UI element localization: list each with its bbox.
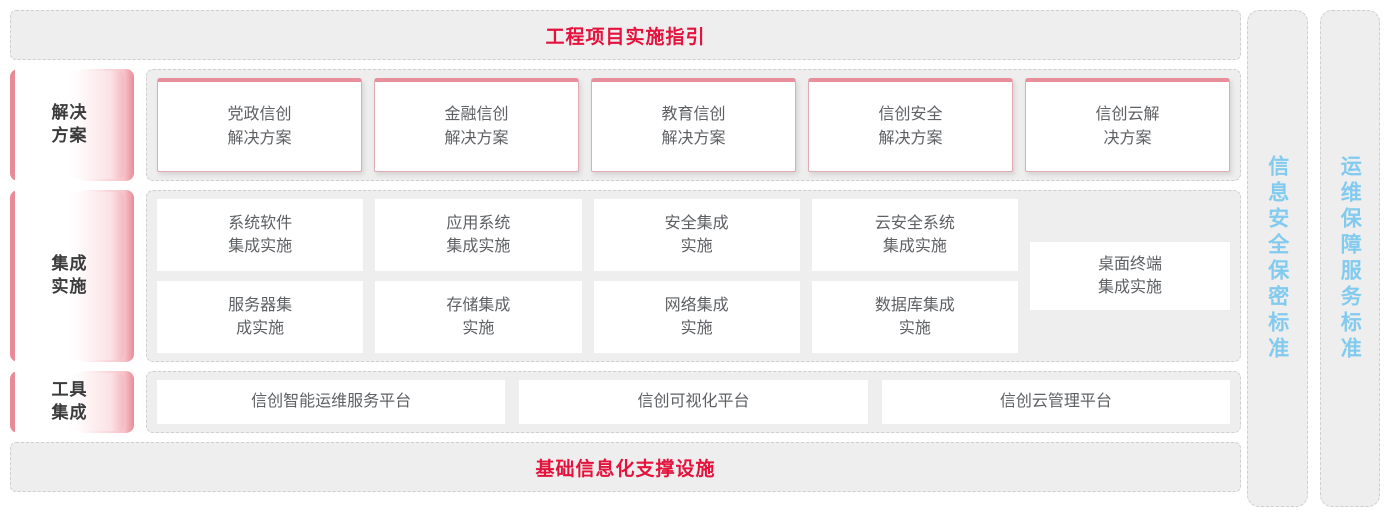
solution-card-text: 信创云解 决方案: [1095, 103, 1159, 149]
integration-card-text: 安全集成 实施: [665, 212, 729, 258]
panel-solutions: 党政信创 解决方案 金融信创 解决方案 教育信创 解决方案: [146, 69, 1241, 181]
tool-card-label: 信创智能运维服务平台: [251, 390, 411, 413]
solution-card-text: 金融信创 解决方案: [444, 103, 508, 149]
row-integration: 集成 实施 系统软件 集成实施: [10, 190, 1241, 362]
tab-solutions-label: 解决 方案: [52, 102, 88, 148]
tab-solutions-inner: 解决 方案: [15, 71, 124, 179]
integration-card-desktop-terminal[interactable]: 桌面终端 集成实施: [1030, 242, 1230, 310]
integration-card-text: 服务器集 成实施: [228, 294, 292, 340]
solution-card-line1: 党政信创: [227, 106, 291, 123]
solution-card-line2: 解决方案: [444, 130, 508, 147]
solution-card-line2: 解决方案: [227, 130, 291, 147]
integration-card-line2: 实施: [462, 320, 494, 337]
solutions-grid: 党政信创 解决方案 金融信创 解决方案 教育信创 解决方案: [157, 78, 1230, 172]
integration-card-line2: 实施: [681, 320, 713, 337]
integration-card-line1: 安全集成: [665, 215, 729, 232]
side-standards-column: 信息安全保密标准 运维保障服务标准: [1247, 0, 1390, 515]
solution-card[interactable]: 教育信创 解决方案: [591, 78, 796, 172]
integration-card-line2: 集成实施: [1098, 279, 1162, 296]
integration-wrap: 系统软件 集成实施 应用系统 集成实施 安全: [157, 199, 1230, 353]
tab-tools-label-line1: 工具: [52, 380, 88, 399]
solution-card-line2: 解决方案: [878, 130, 942, 147]
solution-card-line2: 决方案: [1103, 130, 1151, 147]
side-panel-security-standard[interactable]: 信息安全保密标准: [1247, 10, 1308, 507]
integration-card-line2: 集成实施: [228, 238, 292, 255]
solution-card-text: 教育信创 解决方案: [661, 103, 725, 149]
solution-card[interactable]: 金融信创 解决方案: [374, 78, 579, 172]
integration-card[interactable]: 服务器集 成实施: [157, 281, 363, 353]
solution-card-line1: 信创云解: [1095, 106, 1159, 123]
solution-card-line1: 教育信创: [661, 106, 725, 123]
tab-integration-inner: 集成 实施: [15, 192, 124, 360]
integration-card-line2: 成实施: [236, 320, 284, 337]
tool-card-label: 信创可视化平台: [637, 390, 749, 413]
solution-card[interactable]: 党政信创 解决方案: [157, 78, 362, 172]
integration-card[interactable]: 网络集成 实施: [594, 281, 800, 353]
integration-card-text: 系统软件 集成实施: [228, 212, 292, 258]
tools-grid: 信创智能运维服务平台 信创可视化平台 信创云管理平台: [157, 380, 1230, 424]
side-panel-ops-standard-label: 运维保障服务标准: [1339, 155, 1360, 363]
integration-card-text: 存储集成 实施: [446, 294, 510, 340]
integration-card-text: 数据库集成 实施: [875, 294, 955, 340]
row-solutions: 解决 方案 党政信创 解决方案 金融信创: [10, 69, 1241, 181]
integration-card-line1: 应用系统: [446, 215, 510, 232]
integration-card-line1: 服务器集: [228, 297, 292, 314]
tab-tools-inner: 工具 集成: [15, 373, 124, 431]
tab-integration-label-line1: 集成: [52, 254, 88, 273]
integration-card-line1: 存储集成: [446, 297, 510, 314]
integration-card-line2: 实施: [899, 320, 931, 337]
tool-card[interactable]: 信创可视化平台: [519, 380, 867, 424]
tab-integration-label: 集成 实施: [52, 253, 88, 299]
tab-solutions-label-line1: 解决: [52, 103, 88, 122]
panel-tools: 信创智能运维服务平台 信创可视化平台 信创云管理平台: [146, 371, 1241, 433]
tab-solutions-label-line2: 方案: [52, 126, 88, 145]
integration-card[interactable]: 云安全系统 集成实施: [812, 199, 1018, 271]
page-title: 工程项目实施指引: [545, 22, 705, 49]
integration-card-line2: 集成实施: [883, 238, 947, 255]
integration-card-line1: 桌面终端: [1098, 256, 1162, 273]
tool-card-label: 信创云管理平台: [1000, 390, 1112, 413]
side-panel-ops-standard[interactable]: 运维保障服务标准: [1320, 10, 1381, 507]
diagram-root: 工程项目实施指引 解决 方案 党政信创 解决方案: [0, 0, 1390, 515]
footer-banner: 基础信息化支撑设施: [10, 442, 1241, 492]
integration-card-line1: 系统软件: [228, 215, 292, 232]
tab-integration-label-line2: 实施: [52, 277, 88, 296]
integration-card[interactable]: 系统软件 集成实施: [157, 199, 363, 271]
integration-card[interactable]: 数据库集成 实施: [812, 281, 1018, 353]
integration-card-line1: 网络集成: [665, 297, 729, 314]
tab-solutions[interactable]: 解决 方案: [10, 69, 134, 181]
integration-card-line2: 实施: [681, 238, 713, 255]
tab-tools[interactable]: 工具 集成: [10, 371, 134, 433]
tool-card[interactable]: 信创智能运维服务平台: [157, 380, 505, 424]
integration-card-line1: 云安全系统: [875, 215, 955, 232]
solution-card-text: 信创安全 解决方案: [878, 103, 942, 149]
integration-card[interactable]: 应用系统 集成实施: [375, 199, 581, 271]
tool-card[interactable]: 信创云管理平台: [882, 380, 1230, 424]
integration-card[interactable]: 安全集成 实施: [594, 199, 800, 271]
solution-card-line1: 金融信创: [444, 106, 508, 123]
integration-card-text: 应用系统 集成实施: [446, 212, 510, 258]
footer-title: 基础信息化支撑设施: [535, 454, 715, 481]
integration-card-line1: 数据库集成: [875, 297, 955, 314]
solution-card-line2: 解决方案: [661, 130, 725, 147]
integration-side-wrap: 桌面终端 集成实施: [1030, 199, 1230, 353]
header-banner: 工程项目实施指引: [10, 10, 1241, 60]
solution-card-text: 党政信创 解决方案: [227, 103, 291, 149]
integration-card-text: 云安全系统 集成实施: [875, 212, 955, 258]
integration-card-text: 桌面终端 集成实施: [1098, 253, 1162, 299]
solution-card[interactable]: 信创安全 解决方案: [808, 78, 1013, 172]
solution-card[interactable]: 信创云解 决方案: [1025, 78, 1230, 172]
row-tools: 工具 集成 信创智能运维服务平台 信创可视化平台 信创云管理平台: [10, 371, 1241, 433]
panel-integration: 系统软件 集成实施 应用系统 集成实施 安全: [146, 190, 1241, 362]
tab-tools-label-line2: 集成: [52, 403, 88, 422]
tab-tools-label: 工具 集成: [52, 379, 88, 425]
side-panel-security-standard-label: 信息安全保密标准: [1267, 155, 1288, 363]
main-column: 工程项目实施指引 解决 方案 党政信创 解决方案: [0, 0, 1247, 515]
integration-card-line2: 集成实施: [446, 238, 510, 255]
integration-grid: 系统软件 集成实施 应用系统 集成实施 安全: [157, 199, 1018, 353]
integration-card[interactable]: 存储集成 实施: [375, 281, 581, 353]
solution-card-line1: 信创安全: [878, 106, 942, 123]
integration-card-text: 网络集成 实施: [665, 294, 729, 340]
tab-integration[interactable]: 集成 实施: [10, 190, 134, 362]
